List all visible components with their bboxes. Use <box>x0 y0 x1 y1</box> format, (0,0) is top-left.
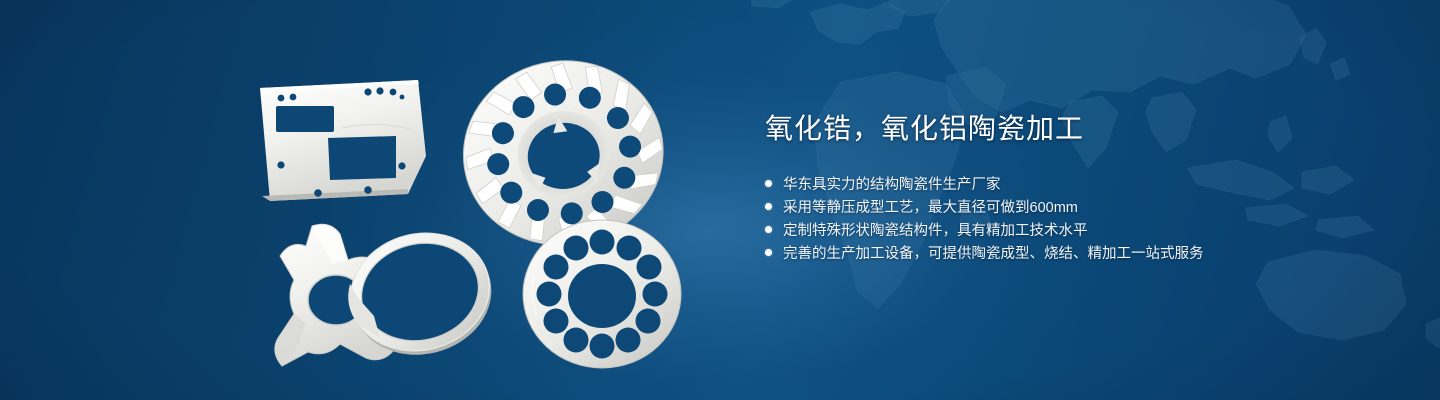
ceramic-plate-part <box>260 80 426 201</box>
list-item-label: 华东具实力的结构陶瓷件生产厂家 <box>783 173 1001 194</box>
bullet-dot-icon <box>765 249 772 256</box>
list-item: 华东具实力的结构陶瓷件生产厂家 <box>765 172 1385 195</box>
bullet-dot-icon <box>765 226 772 233</box>
ceramic-impeller-part <box>451 48 675 258</box>
ceramic-processing-banner: 氧化锆，氧化铝陶瓷加工 华东具实力的结构陶瓷件生产厂家 采用等静压成型工艺，最大… <box>0 0 1440 400</box>
list-item: 定制特殊形状陶瓷结构件，具有精加工技术水平 <box>765 218 1385 241</box>
banner-copy: 氧化锆，氧化铝陶瓷加工 华东具实力的结构陶瓷件生产厂家 采用等静压成型工艺，最大… <box>765 112 1385 280</box>
ceramic-perforated-disc-part <box>523 220 681 368</box>
list-item: 完善的生产加工设备，可提供陶瓷成型、烧结、精加工一站式服务 <box>765 241 1385 264</box>
list-item: 采用等静压成型工艺，最大直径可做到600mm <box>765 195 1385 218</box>
list-item-label: 定制特殊形状陶瓷结构件，具有精加工技术水平 <box>783 219 1088 240</box>
feature-list: 华东具实力的结构陶瓷件生产厂家 采用等静压成型工艺，最大直径可做到600mm 定… <box>765 172 1385 264</box>
list-item-label: 完善的生产加工设备，可提供陶瓷成型、烧结、精加工一站式服务 <box>783 242 1204 263</box>
page-title: 氧化锆，氧化铝陶瓷加工 <box>765 112 1385 146</box>
ceramic-parts-image-group <box>230 38 700 368</box>
list-item-label: 采用等静压成型工艺，最大直径可做到600mm <box>783 196 1078 217</box>
bullet-dot-icon <box>765 180 772 187</box>
bullet-dot-icon <box>765 203 772 210</box>
